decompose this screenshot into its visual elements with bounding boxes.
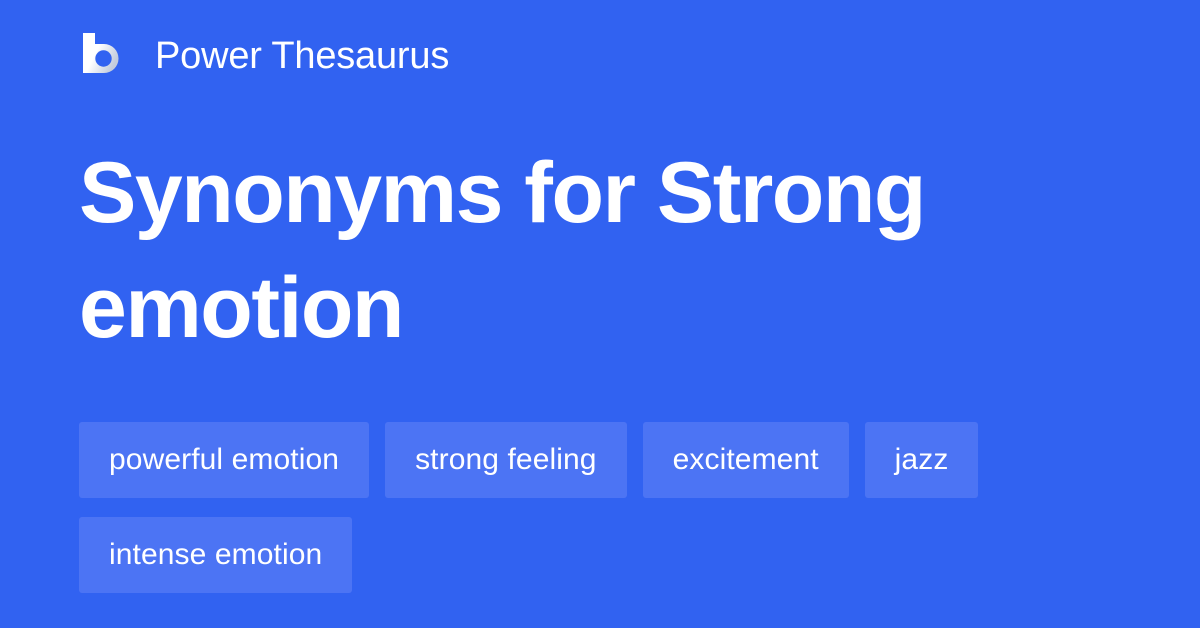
synonym-tag[interactable]: jazz — [865, 422, 979, 498]
brand-name: Power Thesaurus — [155, 37, 449, 75]
synonym-tag[interactable]: excitement — [643, 422, 849, 498]
page-title: Synonyms for Strong emotion — [79, 136, 1079, 366]
synonym-tag[interactable]: powerful emotion — [79, 422, 369, 498]
synonym-tag[interactable]: intense emotion — [79, 517, 352, 593]
brand-logo[interactable]: Power Thesaurus — [79, 28, 449, 84]
synonym-tag[interactable]: strong feeling — [385, 422, 627, 498]
power-thesaurus-b-logo-icon — [79, 31, 129, 81]
share-card: Power Thesaurus Synonyms for Strong emot… — [0, 0, 1200, 628]
synonym-tag-list: powerful emotion strong feeling exciteme… — [79, 422, 1119, 593]
